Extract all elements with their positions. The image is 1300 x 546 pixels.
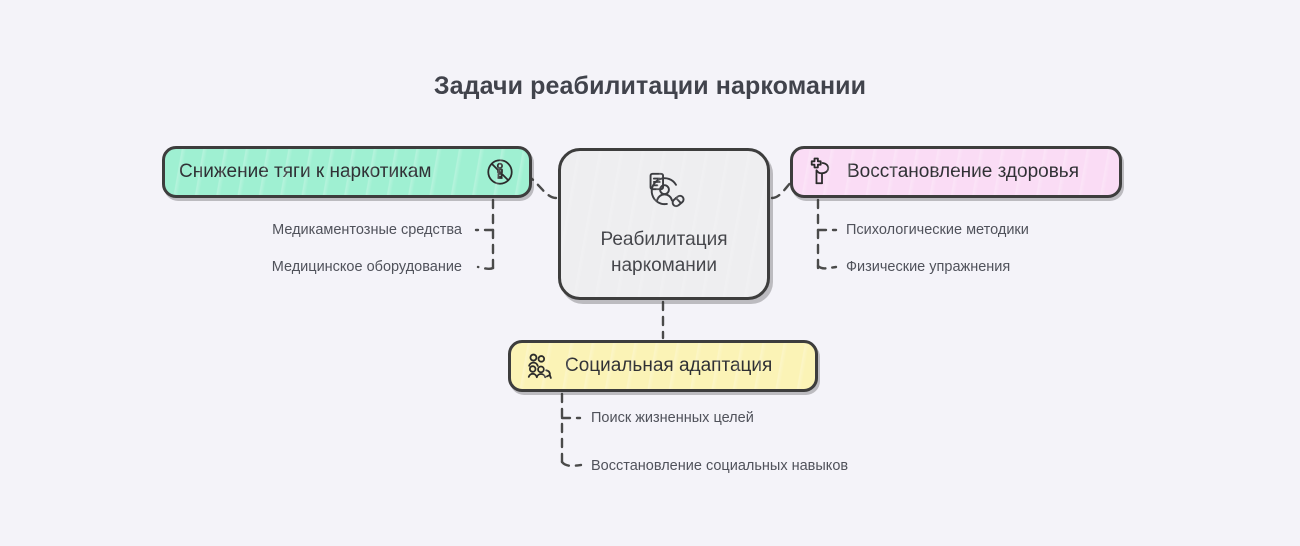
branch-node-right[interactable]: Восстановление здоровья [790, 146, 1122, 198]
branch-label-left: Снижение тяги к наркотикам [179, 161, 431, 183]
diagram-canvas: Задачи реабилитации наркомании Снижение [0, 0, 1300, 546]
leaf-left-0: Медикаментозные средства [190, 222, 462, 238]
health-hand-plus-icon [807, 156, 837, 188]
leaf-right-0: Психологические методики [846, 222, 1029, 238]
page-title: Задачи реабилитации наркомании [0, 72, 1300, 101]
no-drugs-icon [485, 157, 515, 187]
branch-node-left[interactable]: Снижение тяги к наркотикам [162, 146, 532, 198]
leaf-bottom-0: Поиск жизненных целей [591, 410, 754, 426]
person-document-pill-icon [639, 169, 689, 217]
edge-center-to-left [528, 176, 556, 198]
leaf-left-1: Медицинское оборудование [190, 259, 462, 275]
people-group-icon [525, 351, 555, 381]
central-node-label: Реабилитация наркомании [561, 227, 767, 278]
edge-left-child-1 [478, 267, 493, 269]
edge-bottom-child-1 [562, 462, 581, 466]
edge-right-child-1 [818, 266, 836, 268]
branch-node-bottom[interactable]: Социальная адаптация [508, 340, 818, 392]
branch-label-bottom: Социальная адаптация [565, 355, 772, 377]
branch-label-right: Восстановление здоровья [847, 161, 1079, 183]
leaf-bottom-1: Восстановление социальных навыков [591, 458, 848, 474]
leaf-right-1: Физические упражнения [846, 259, 1010, 275]
central-node[interactable]: Реабилитация наркомании [558, 148, 770, 300]
